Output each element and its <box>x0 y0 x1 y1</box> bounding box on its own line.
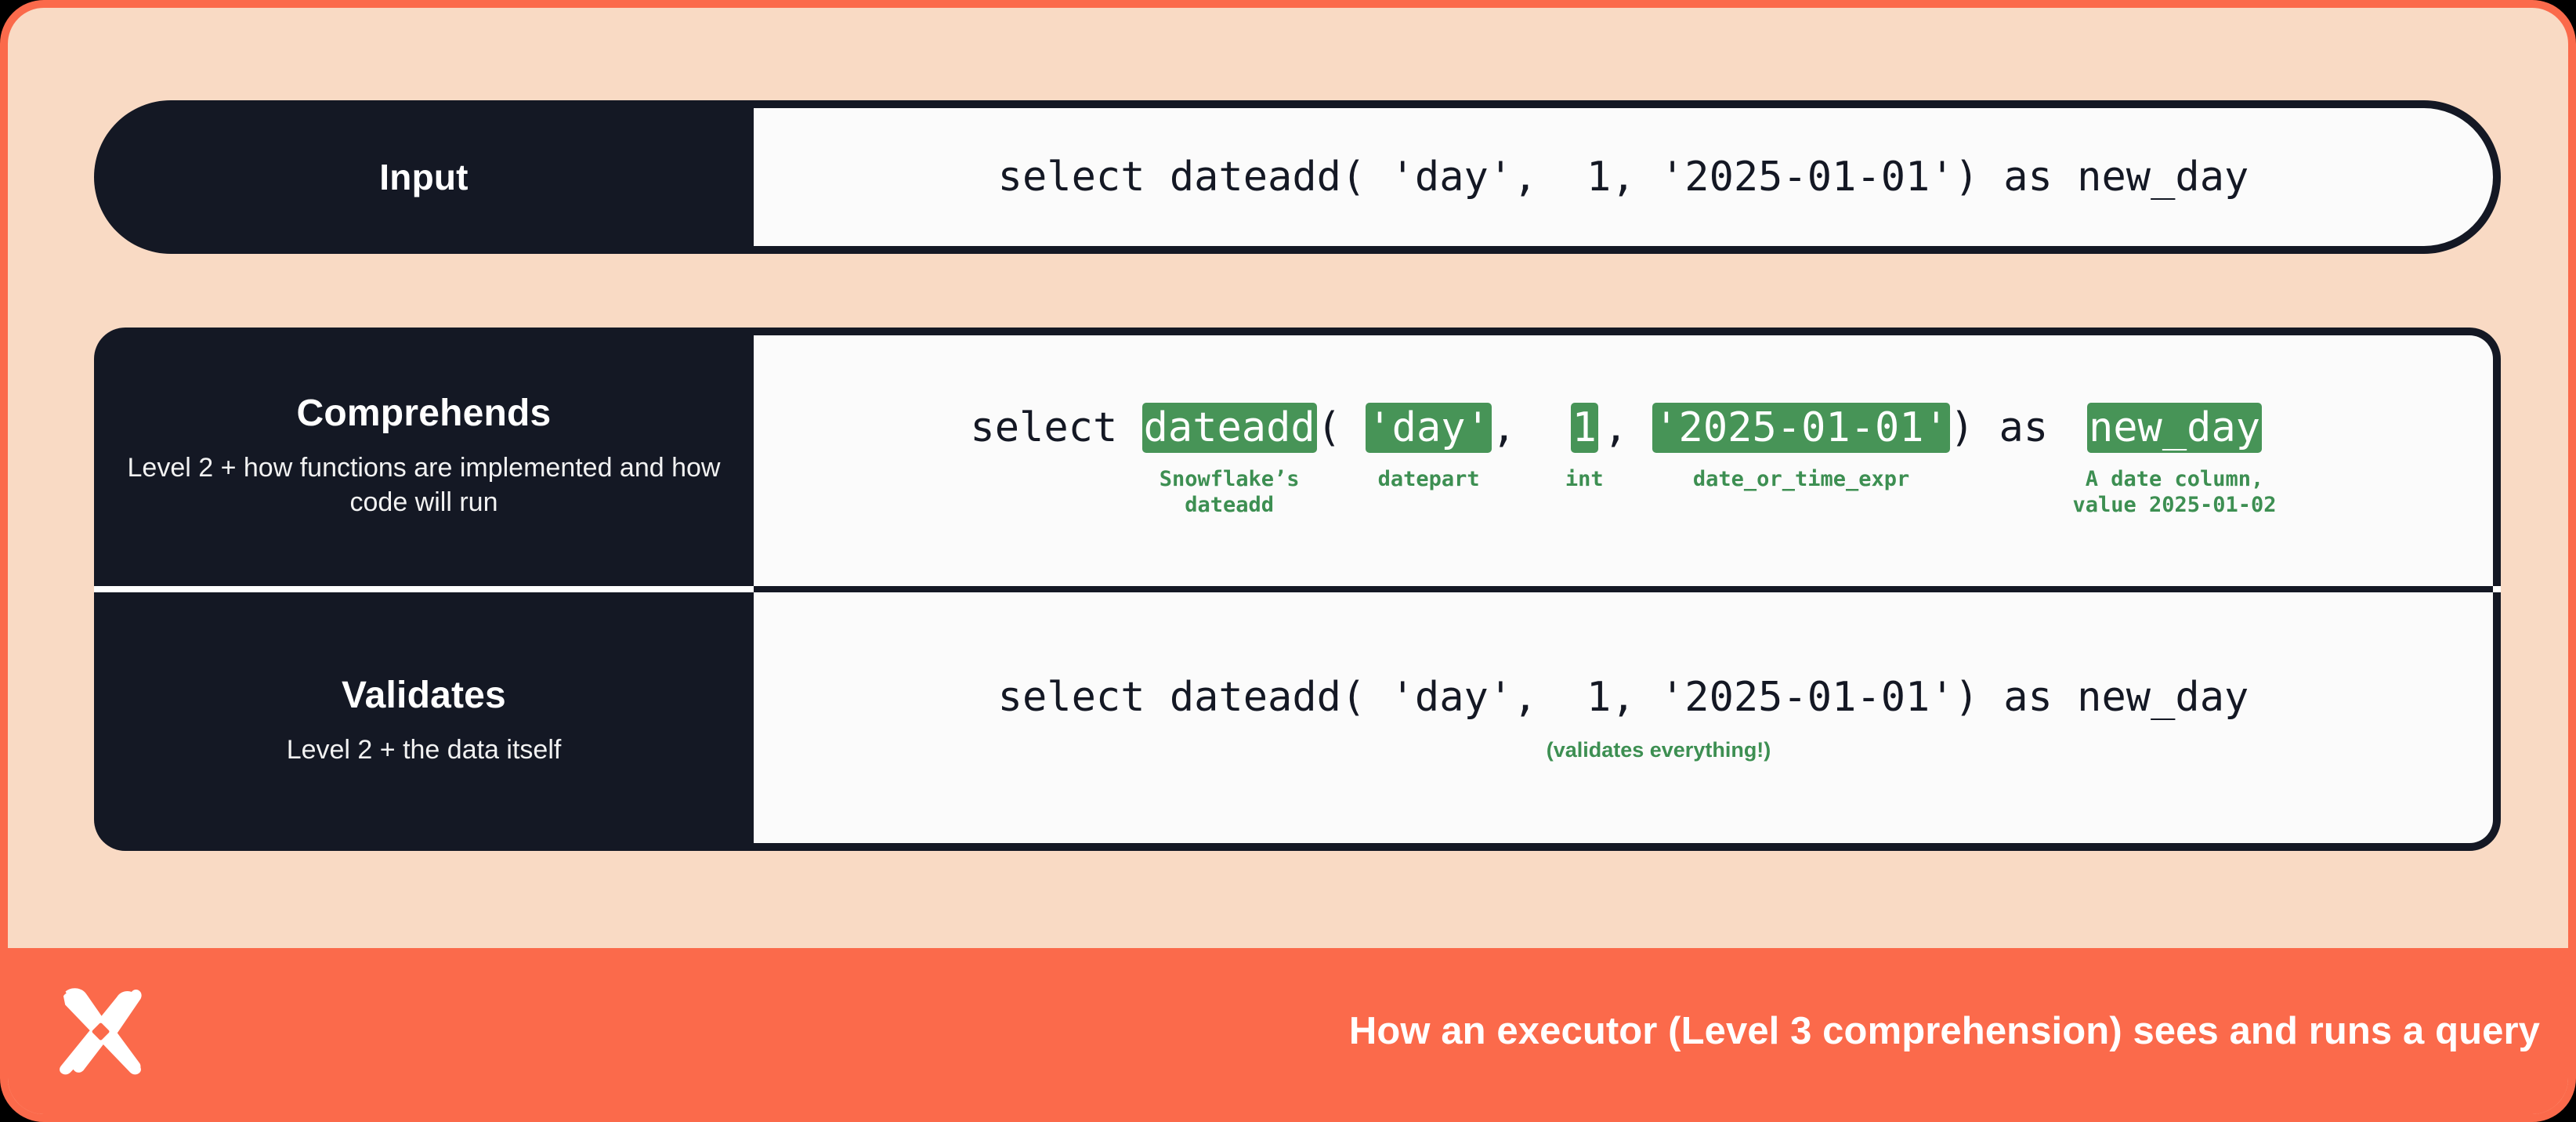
query-token-4: , . <box>1492 403 1565 493</box>
row-divider-left <box>94 586 754 592</box>
row-comprehends-content-cell: select .dateaddSnowflake’s dateadd( .'da… <box>754 335 2493 586</box>
footer-bar: How an executor (Level 3 comprehension) … <box>8 948 2576 1114</box>
slide-card: Input select dateadd( 'day', 1, '2025-01… <box>0 0 2576 1122</box>
query-token-text: dateadd <box>1142 403 1317 453</box>
query-token-annotation: int <box>1565 467 1604 493</box>
query-token-7: '2025-01-01'date_or_time_expr <box>1652 403 1950 493</box>
row-divider <box>94 586 2501 592</box>
query-token-annotation: date_or_time_expr <box>1693 467 1909 493</box>
query-token-3: 'day'datepart <box>1366 403 1492 493</box>
row-input-label: Input <box>379 157 468 197</box>
x-mark-logo-icon <box>56 987 144 1075</box>
query-token-text: ( <box>1317 403 1366 453</box>
query-token-text: '2025-01-01' <box>1652 403 1950 453</box>
annotated-query-code: select .dateaddSnowflake’s dateadd( .'da… <box>970 403 2276 519</box>
query-token-2: ( . <box>1317 403 1366 493</box>
row-divider-right <box>754 586 2493 592</box>
row-comprehends: Comprehends Level 2 + how functions are … <box>94 328 2501 586</box>
query-token-text: new_day <box>2087 403 2262 453</box>
query-token-annotation: Snowflake’s dateadd <box>1160 467 1300 519</box>
row-validates: Validates Level 2 + the data itself sele… <box>94 592 2501 851</box>
row-comprehends-sublabel: Level 2 + how functions are implemented … <box>121 451 727 521</box>
row-input-content-cell: select dateadd( 'day', 1, '2025-01-01') … <box>754 108 2493 246</box>
content-area: Input select dateadd( 'day', 1, '2025-01… <box>8 8 2576 972</box>
query-token-6: , . <box>1604 403 1653 493</box>
row-input: Input select dateadd( 'day', 1, '2025-01… <box>94 100 2501 254</box>
query-token-9: new_dayA date column, value 2025-01-02 <box>2072 403 2276 519</box>
query-token-text: , <box>1604 403 1653 453</box>
query-token-0: select . <box>970 403 1141 493</box>
query-token-text: 'day' <box>1366 403 1492 453</box>
input-query-code: select dateadd( 'day', 1, '2025-01-01') … <box>998 154 2249 201</box>
query-token-text: 1 <box>1571 403 1598 453</box>
row-validates-content-cell: select dateadd( 'day', 1, '2025-01-01') … <box>754 592 2493 843</box>
row-input-label-cell: Input <box>94 100 754 254</box>
query-token-annotation: A date column, value 2025-01-02 <box>2072 467 2276 519</box>
footer-caption: How an executor (Level 3 comprehension) … <box>1349 1009 2540 1053</box>
query-token-8: ) as . <box>1950 403 2073 493</box>
validates-query-code: select dateadd( 'day', 1, '2025-01-01') … <box>998 674 2249 721</box>
query-token-annotation: datepart <box>1378 467 1480 493</box>
row-validates-label-cell: Validates Level 2 + the data itself <box>94 592 754 851</box>
row-comprehends-label: Comprehends <box>297 393 552 435</box>
validates-note: (validates everything!) <box>1547 738 1771 762</box>
query-token-1: dateaddSnowflake’s dateadd <box>1142 403 1317 519</box>
row-validates-sublabel: Level 2 + the data itself <box>287 733 562 768</box>
row-validates-label: Validates <box>342 675 506 717</box>
query-token-5: 1int <box>1565 403 1604 493</box>
rows-block: Comprehends Level 2 + how functions are … <box>94 328 2501 851</box>
row-comprehends-label-cell: Comprehends Level 2 + how functions are … <box>94 328 754 586</box>
query-token-text: , <box>1492 403 1565 453</box>
query-token-text: select <box>970 403 1141 453</box>
query-token-text: ) as <box>1950 403 2073 453</box>
